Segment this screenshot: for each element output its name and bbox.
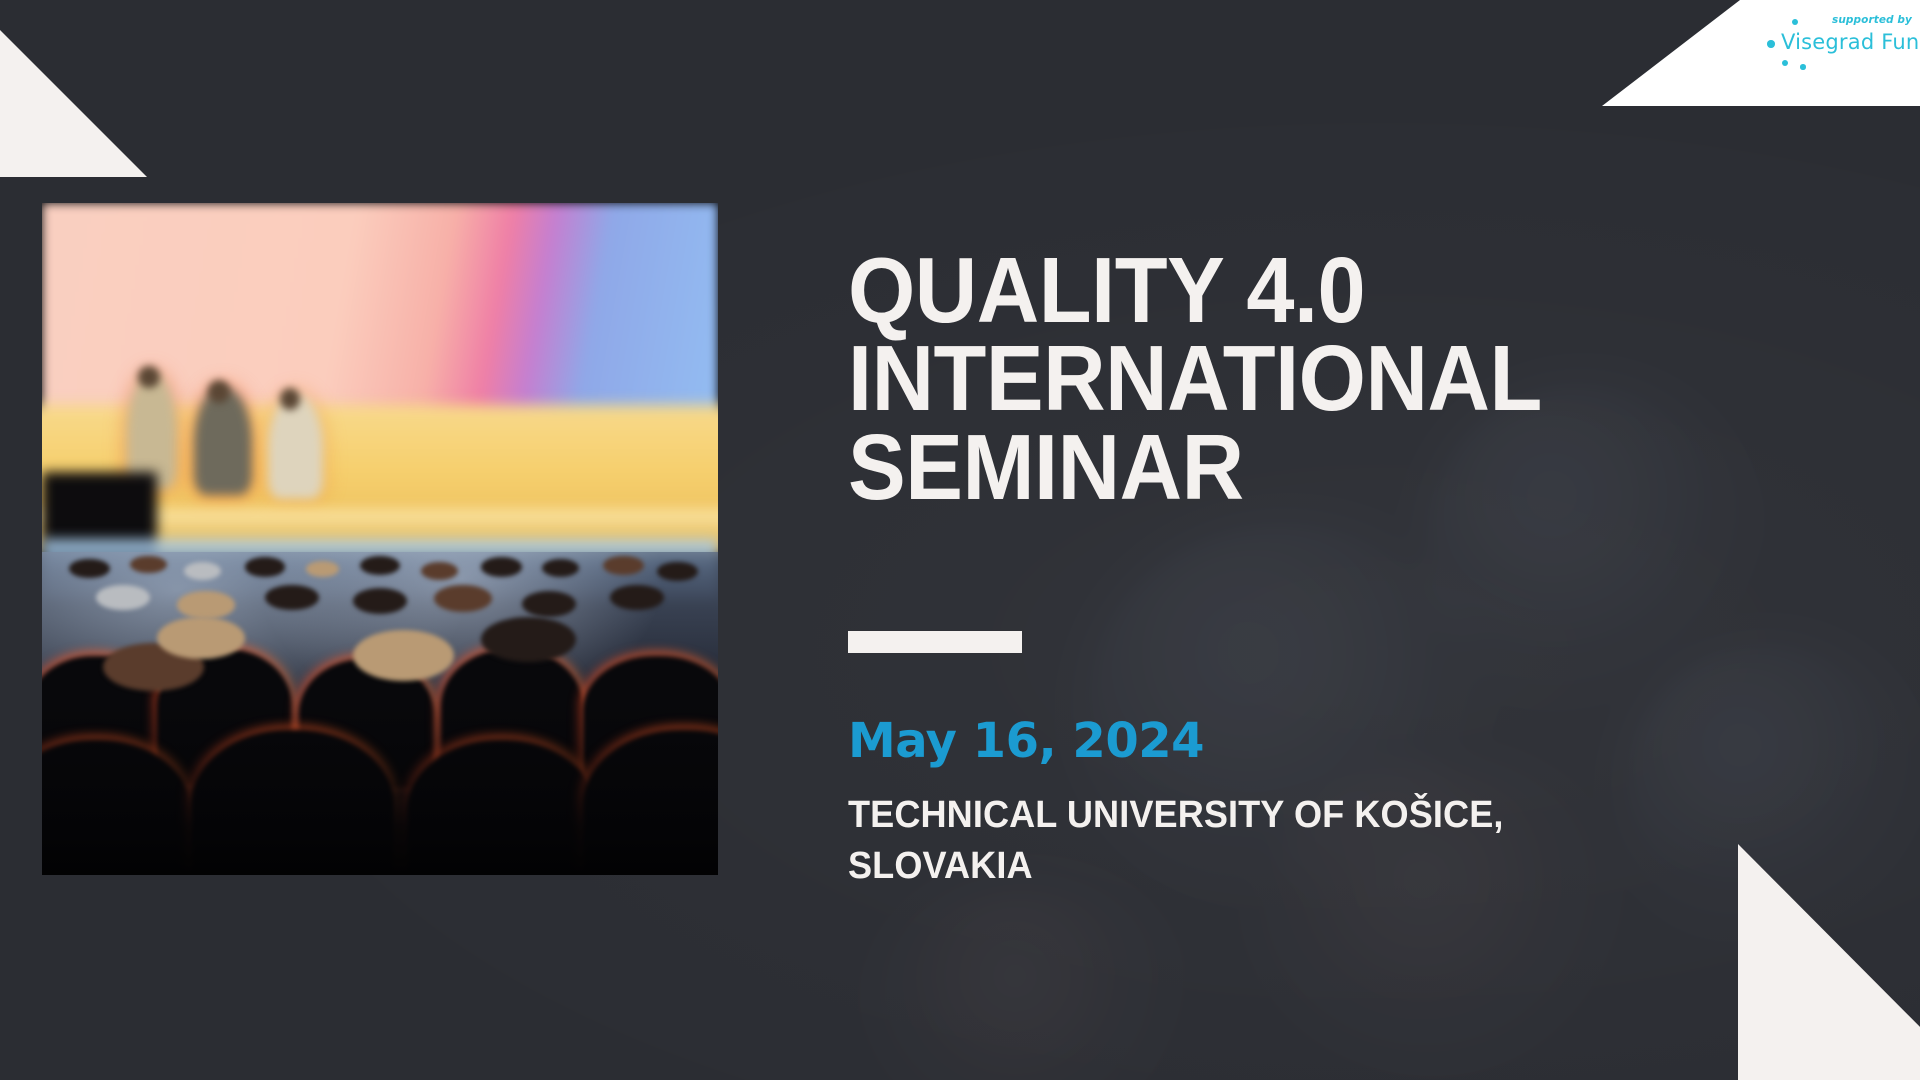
decor-triangle-top-left xyxy=(0,30,147,177)
accent-bar xyxy=(848,631,1022,653)
panelist-figure xyxy=(268,395,322,499)
visegrad-dot-icon xyxy=(1767,40,1775,48)
panelist-figure xyxy=(194,388,251,496)
visegrad-fund-wordmark: Visegrad Fund xyxy=(1781,30,1920,54)
supported-by-label: supported by xyxy=(1832,14,1912,26)
visegrad-dot-icon xyxy=(1800,64,1806,70)
slide-title: QUALITY 4.0 INTERNATIONAL SEMINAR xyxy=(848,246,1787,511)
photo-bottom-fade xyxy=(42,700,718,875)
event-venue: TECHNICAL UNIVERSITY OF KOŠICE, SLOVAKIA xyxy=(848,790,1608,891)
visegrad-fund-logo: supported by Visegrad Fund xyxy=(1748,8,1920,74)
panelist-head xyxy=(208,380,230,403)
panelist-head xyxy=(138,366,160,389)
panelist-head xyxy=(280,388,300,410)
conference-photo xyxy=(42,203,718,875)
title-block: QUALITY 4.0 INTERNATIONAL SEMINAR xyxy=(848,246,1858,511)
visegrad-dot-icon xyxy=(1792,19,1798,25)
presentation-slide: supported by Visegrad Fund xyxy=(0,0,1920,1080)
visegrad-dot-icon xyxy=(1782,60,1788,66)
decor-triangle-bottom-right xyxy=(1738,844,1920,1080)
event-date: May 16, 2024 xyxy=(848,713,1204,769)
